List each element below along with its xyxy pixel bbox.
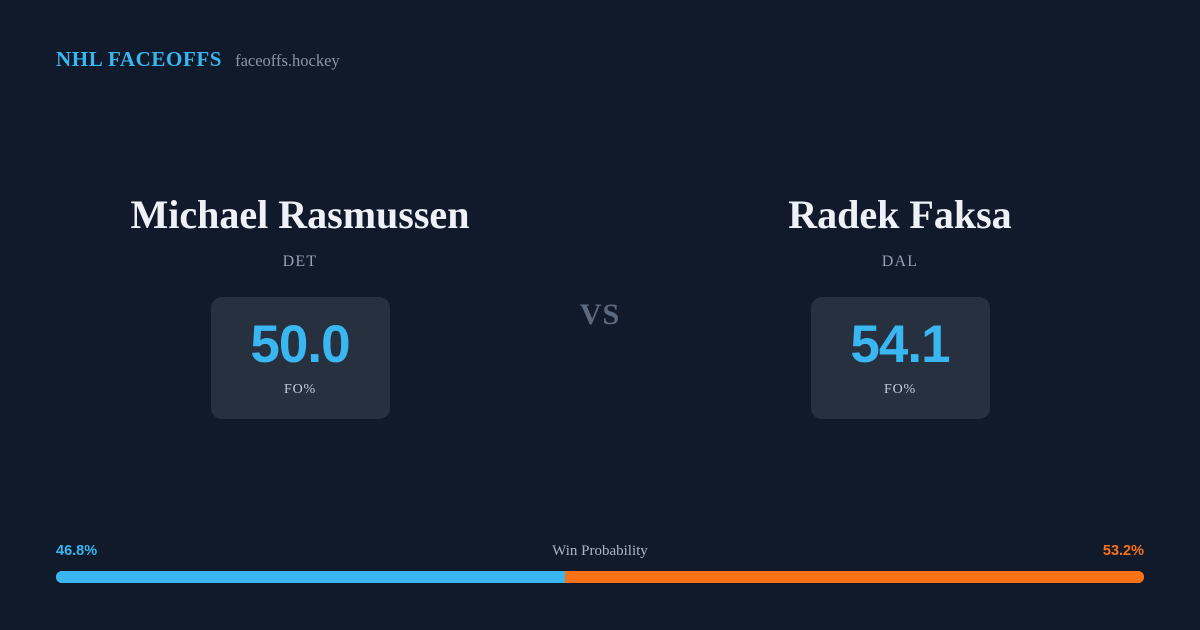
win-probability-right-value: 53.2% <box>1103 540 1144 562</box>
player-name-right: Radek Faksa <box>788 195 1011 235</box>
win-probability-title: Win Probability <box>56 540 1144 562</box>
brand-domain: faceoffs.hockey <box>235 51 340 71</box>
stat-label-right: FO% <box>884 382 916 398</box>
brand-title: NHL FACEOFFS <box>56 47 222 72</box>
player-card-right: Radek Faksa DAL 54.1 FO% <box>690 195 1110 419</box>
matchup-section: Michael Rasmussen DET 50.0 FO% VS Radek … <box>0 195 1200 430</box>
win-probability-bar-left <box>56 571 565 583</box>
win-probability-bar-right <box>565 571 1144 583</box>
stat-label-left: FO% <box>284 382 316 398</box>
stat-card-right: 54.1 FO% <box>811 297 990 419</box>
player-team-right: DAL <box>882 253 918 271</box>
win-probability-section: 46.8% Win Probability 53.2% <box>56 540 1144 583</box>
player-name-left: Michael Rasmussen <box>131 195 470 235</box>
stat-value-right: 54.1 <box>850 318 949 371</box>
site-header: NHL FACEOFFS faceoffs.hockey <box>56 47 340 72</box>
win-probability-bar <box>56 571 1144 583</box>
player-team-left: DET <box>283 253 318 271</box>
win-probability-labels: 46.8% Win Probability 53.2% <box>56 540 1144 562</box>
